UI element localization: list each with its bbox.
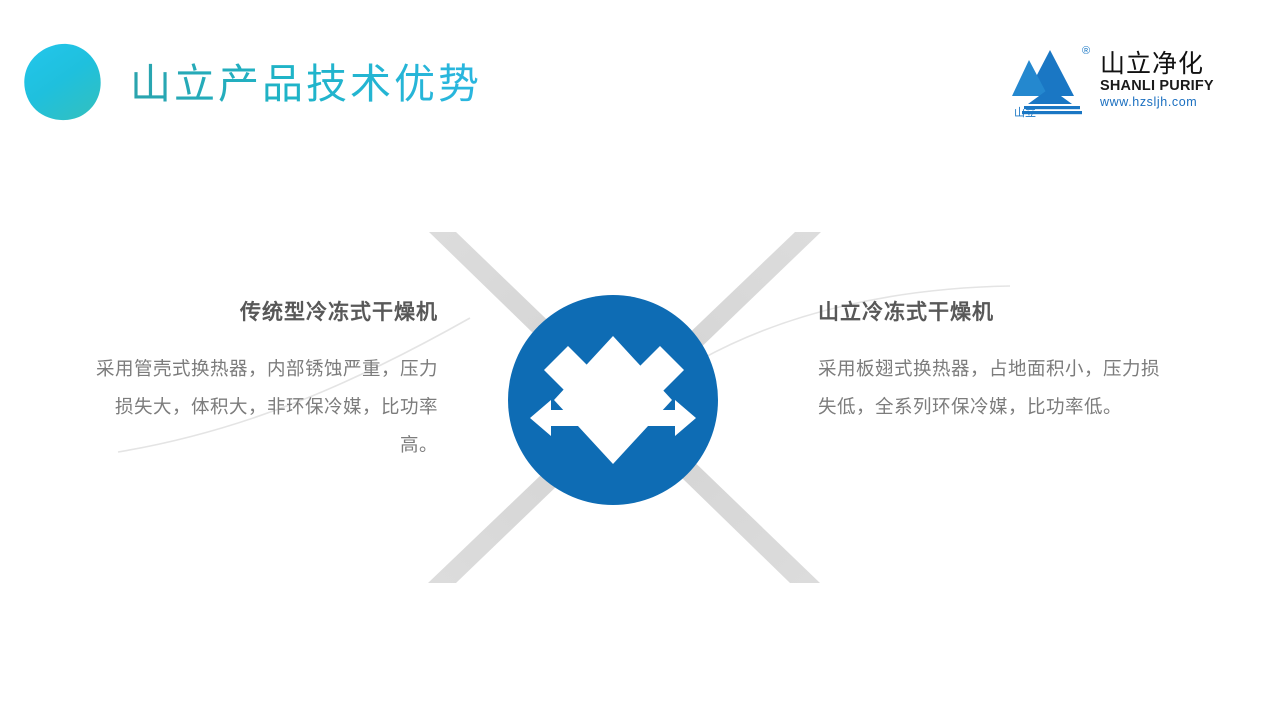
slide-canvas: 山立产品技术优势 山立 ® 山立净化 SHANLI PURIFY www.hzs… bbox=[0, 0, 1280, 720]
panel-right-title: 山立冷冻式干燥机 bbox=[818, 298, 1168, 328]
registered-trademark-icon: ® bbox=[1082, 46, 1090, 57]
compare-expand-diamonds-icon bbox=[530, 336, 696, 464]
logo-company-cn: 山立净化 bbox=[1100, 50, 1226, 78]
logo-website: www.hzsljh.com bbox=[1100, 95, 1226, 110]
svg-text:山立: 山立 bbox=[1014, 105, 1036, 119]
page-title: 山立产品技术优势 bbox=[130, 58, 482, 110]
panel-shanli-dryer: 山立冷冻式干燥机 采用板翅式换热器，占地面积小，压力损失低，全系列环保冷媒，比功… bbox=[818, 298, 1168, 426]
panel-traditional-dryer: 传统型冷冻式干燥机 采用管壳式换热器，内部锈蚀严重，压力损失大，体积大，非环保冷… bbox=[88, 298, 438, 464]
cross-band-backslash bbox=[429, 232, 820, 583]
panel-right-body: 采用板翅式换热器，占地面积小，压力损失低，全系列环保冷媒，比功率低。 bbox=[818, 350, 1168, 426]
center-circle bbox=[508, 295, 718, 505]
mountain-logo-icon: 山立 bbox=[1012, 44, 1090, 120]
company-logo: 山立 ® 山立净化 SHANLI PURIFY www.hzsljh.com bbox=[1012, 44, 1224, 120]
blob-icon bbox=[20, 42, 105, 122]
panel-left-body: 采用管壳式换热器，内部锈蚀严重，压力损失大，体积大，非环保冷媒，比功率高。 bbox=[88, 350, 438, 464]
logo-text-block: 山立净化 SHANLI PURIFY www.hzsljh.com bbox=[1100, 50, 1226, 110]
panel-left-title: 传统型冷冻式干燥机 bbox=[88, 298, 438, 328]
cross-band-slash bbox=[428, 232, 821, 583]
logo-company-en: SHANLI PURIFY bbox=[1100, 78, 1226, 94]
